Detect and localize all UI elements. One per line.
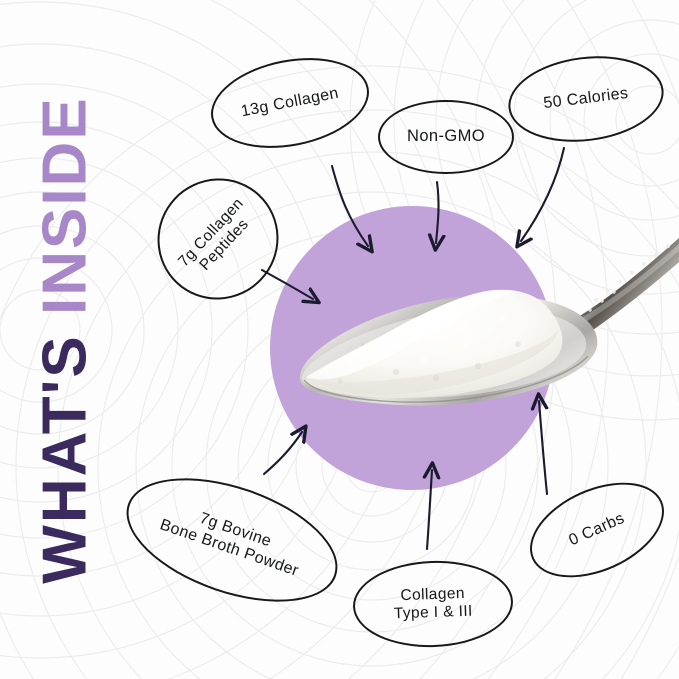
callout-label: 50 Calories (542, 84, 629, 113)
callout-label-block: Collagen Type I & III (393, 584, 473, 623)
page-title: WHAT'S INSIDE (0, 0, 130, 679)
title-inside: INSIDE (31, 96, 100, 315)
callout-label: 13g Collagen (240, 84, 341, 121)
callout-label: Non-GMO (407, 127, 485, 146)
title-whats: WHAT'S (31, 334, 100, 583)
callout-label-block: 7g Collagen Peptides (175, 195, 261, 284)
arrow-7g-bovine-bone-broth (264, 432, 302, 474)
callout-non-gmo: Non-GMO (378, 100, 514, 174)
callout-label-line2: Type I & III (394, 603, 473, 624)
infographic-canvas: WHAT'S INSIDE 13g Collagen Non-GMO 50 Ca… (0, 0, 679, 679)
callout-label: 0 Carbs (566, 509, 627, 550)
arrow-50-calories (521, 148, 564, 241)
callout-label-block: 7g Bovine Bone Broth Powder (157, 498, 307, 581)
arrow-0-carbs (539, 401, 547, 494)
